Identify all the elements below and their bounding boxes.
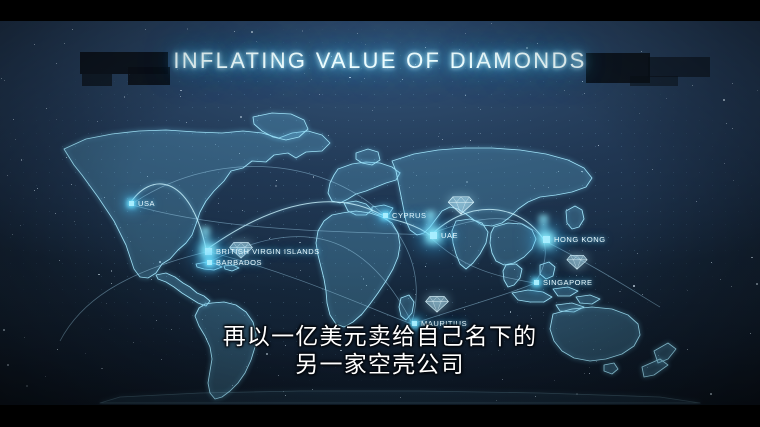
map-landmasses xyxy=(64,113,700,403)
page-title: INFLATING VALUE OF DIAMONDS xyxy=(173,48,586,74)
title-band: INFLATING VALUE OF DIAMONDS xyxy=(0,39,760,83)
video-player-viewport: USABRITISH VIRGIN ISLANDSBARBADOSCYPRUSU… xyxy=(0,0,760,427)
letterbox-bottom xyxy=(0,405,760,427)
video-frame: USABRITISH VIRGIN ISLANDSBARBADOSCYPRUSU… xyxy=(0,21,760,405)
letterbox-top xyxy=(0,0,760,21)
